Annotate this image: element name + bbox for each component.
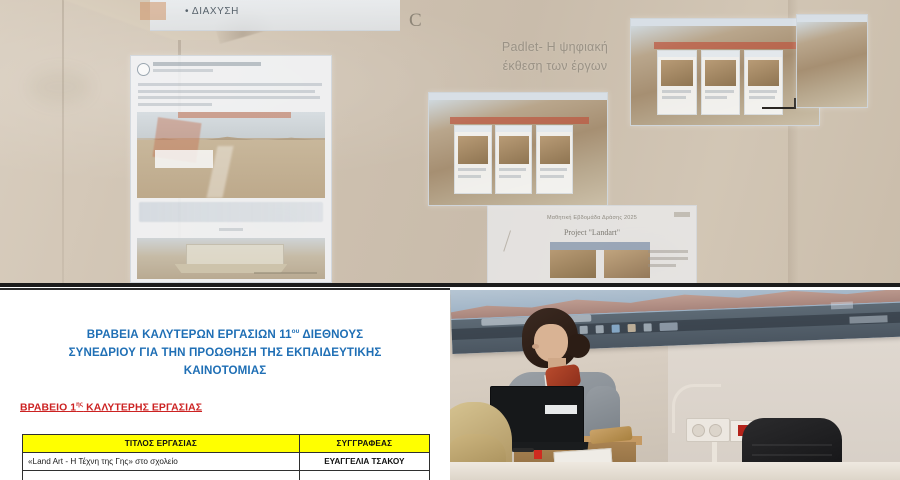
page-title-line1b: ΔΙΕΘΝΟΥΣ (299, 328, 363, 341)
post-meta-line (153, 69, 213, 72)
table-row: «Land Art - Η Τέχνη της Γης» στο σχολείο… (23, 453, 430, 471)
slide-caption-line2: έκθεση των έργων (460, 57, 650, 76)
laptop-sticker (545, 405, 577, 414)
board-column (495, 125, 533, 194)
window-content (797, 22, 867, 107)
column-thumbnail (499, 136, 529, 164)
column-thumbnail (705, 60, 737, 87)
table-cell-author: ΕΥΑΓΓΕΛΙΑ ΤΣΑΚΟΥ (299, 453, 429, 471)
table-cell-title: «Land Art - Η Τέχνη της Γης» στο σχολείο (23, 453, 300, 471)
table-header-author: ΣΥΓΓΡΑΦΕΑΣ (299, 435, 429, 453)
post-body-text (138, 83, 322, 109)
column-caption (702, 51, 740, 57)
presenter-face (534, 324, 568, 362)
column-thumbnail (748, 60, 780, 87)
awards-document: ΒΡΑΒΕΙΑ ΚΑΛΥΤΕΡΩΝ ΕΡΓΑΣΙΩΝ 11ου ΔΙΕΘΝΟΥΣ… (0, 290, 450, 480)
table-cell-author-clipped (299, 471, 429, 480)
thumbnail-image (797, 22, 867, 107)
board-column (744, 50, 784, 115)
column-caption (658, 51, 696, 57)
page-title-line1: ΒΡΑΒΕΙΑ ΚΑΛΥΤΕΡΩΝ ΕΡΓΑΣΙΩΝ 11 (87, 328, 292, 341)
slide-caption-line1: Padlet- Η ψηφιακή (460, 38, 650, 57)
red-indicator-light (534, 450, 542, 459)
desktop-widget (831, 302, 853, 310)
screenshot-page: • ΔΙΑΧΥΣΗ C Padlet- Η ψηφιακή έκθεση των… (0, 0, 900, 480)
image-banner (178, 112, 291, 118)
window-content (429, 100, 607, 205)
slide-thumbnail-far-right (796, 14, 868, 108)
project-landart-slide: Μαθητική Εβδομάδα Δράσης 2025 Project "L… (487, 205, 697, 283)
presenter-nose (532, 344, 539, 349)
slide-caption: Padlet- Η ψηφιακή έκθεση των έργων (460, 38, 650, 77)
column-thumbnail (458, 136, 488, 164)
table-row-clipped (23, 471, 430, 480)
column-caption (455, 126, 491, 132)
post-image-building (137, 238, 325, 279)
slide-top-strip: • ΔΙΑΧΥΣΗ (150, 0, 400, 31)
system-tray[interactable] (849, 315, 887, 323)
taskbar-icon[interactable] (596, 325, 604, 333)
board-header-banner (450, 117, 589, 124)
board-column (701, 50, 741, 115)
padlet-board-window-middle (428, 92, 608, 206)
power-socket (686, 418, 730, 442)
padlet-post-card (130, 55, 332, 283)
wall-seam (62, 0, 64, 283)
page-title-line3: ΚΑΙΝΟΤΟΜΙΑΣ (184, 364, 267, 377)
post-title-line (153, 62, 261, 66)
landart-slide-line1: Μαθητική Εβδομάδα Δράσης 2025 (488, 215, 696, 221)
column-thumbnail (661, 60, 693, 87)
post-image-landscape (137, 112, 325, 198)
slide-bullet-diachysi: • ΔΙΑΧΥΣΗ (185, 6, 239, 17)
slide-side-text (648, 250, 688, 270)
image-label (155, 150, 213, 168)
taskbar-icon[interactable] (612, 324, 620, 332)
award-heading-post: ΚΑΛΥΤΕΡΗΣ ΕΡΓΑΣΙΑΣ (83, 402, 202, 413)
presenter-hair-bun (566, 334, 590, 358)
image-rail (254, 272, 318, 283)
taskbar-icon[interactable] (628, 323, 636, 331)
panel-divider (0, 283, 900, 287)
taskbar-icon[interactable] (643, 323, 651, 331)
column-caption (537, 126, 573, 132)
post-divider (219, 228, 243, 231)
c-glyph: C (409, 10, 422, 32)
awards-table: ΤΙΤΛΟΣ ΕΡΓΑΣΙΑΣ ΣΥΓΓΡΑΦΕΑΣ «Land Art - Η… (22, 434, 430, 480)
column-caption (496, 126, 532, 132)
award-heading: ΒΡΑΒΕΙΟ 1ης ΚΑΛΥΤΕΡΗΣ ΕΡΓΑΣΙΑΣ (20, 402, 202, 413)
foreground-table (450, 462, 900, 480)
board-column (536, 125, 574, 194)
image-plaque (186, 244, 284, 266)
padlet-board (429, 100, 607, 205)
taskbar-icon[interactable] (580, 325, 588, 333)
page-title-line2: ΣΥΝΕΔΡΙΟΥ ΓΙΑ ΤΗΝ ΠΡΟΩΘΗΣΗ ΤΗΣ ΕΚΠΑΙΔΕΥΤ… (69, 346, 382, 359)
slide-photo (550, 250, 596, 278)
board-column (454, 125, 492, 194)
wall-blotch (30, 70, 90, 104)
column-thumbnail (540, 136, 570, 164)
taskbar-icon[interactable] (659, 322, 677, 331)
slide-photo (604, 250, 650, 278)
padlet-board (631, 26, 819, 125)
post-handwritten-title (139, 202, 323, 222)
padlet-post-header (137, 62, 325, 78)
slide-banner (550, 242, 650, 250)
table-header-title: ΤΙΤΛΟΣ ΕΡΓΑΣΙΑΣ (23, 435, 300, 453)
microphone (512, 448, 534, 452)
projected-slide-photo: • ΔΙΑΧΥΣΗ C Padlet- Η ψηφιακή έκθεση των… (0, 0, 900, 283)
board-column (657, 50, 697, 115)
award-heading-pre: ΒΡΑΒΕΙΟ 1 (20, 402, 76, 413)
mouse-cursor-icon (762, 107, 796, 109)
board-header-banner (654, 42, 801, 49)
page-title: ΒΡΑΒΕΙΑ ΚΑΛΥΤΕΡΩΝ ΕΡΓΑΣΙΩΝ 11ου ΔΙΕΘΝΟΥΣ… (22, 326, 428, 380)
landart-slide-line2: Project "Landart" (488, 228, 696, 237)
column-caption (745, 51, 783, 57)
slide-thumb-square (140, 2, 166, 20)
avatar-icon (137, 63, 150, 76)
table-cell-title-clipped (23, 471, 300, 480)
table-header-row: ΤΙΤΛΟΣ ΕΡΓΑΣΙΑΣ ΣΥΓΓΡΑΦΕΑΣ (23, 435, 430, 453)
window-content (631, 26, 819, 125)
padlet-board-window-right (630, 18, 820, 126)
conference-room-photo: Μαθητική Εβδομάδα Δράσης 2025 (450, 290, 900, 480)
